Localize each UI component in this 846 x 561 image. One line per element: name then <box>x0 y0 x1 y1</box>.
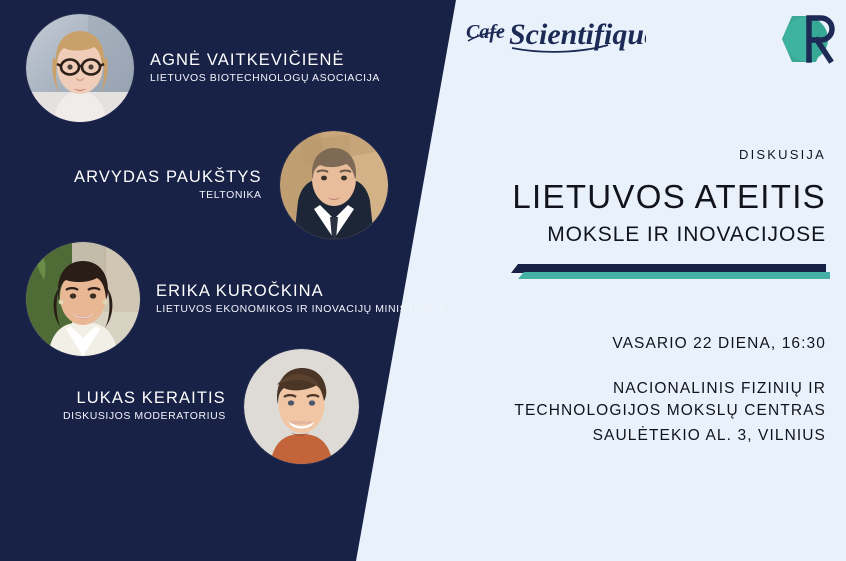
speaker-entry-1: AGNĖ VAITKEVIČIENĖ LIETUVOS BIOTECHNOLOG… <box>26 14 380 122</box>
organisation-r-logo <box>776 8 838 70</box>
speaker-info-2: ARVYDAS PAUKŠTYS TELTONIKA <box>74 168 262 202</box>
speaker-org-3: LIETUVOS EKONOMIKOS IR INOVACIJŲ MINISTE… <box>156 303 447 316</box>
accent-bar-teal <box>518 272 830 279</box>
event-date: VASARIO 22 DIENA, 16:30 <box>612 335 826 353</box>
speaker-name-4: LUKAS KERAITIS <box>63 389 226 408</box>
speaker-entry-4: LUKAS KERAITIS DISKUSIJOS MODERATORIUS <box>63 349 359 464</box>
speaker-name-2: ARVYDAS PAUKŠTYS <box>74 168 262 187</box>
speaker-org-4: DISKUSIJOS MODERATORIUS <box>63 410 226 423</box>
speaker-info-1: AGNĖ VAITKEVIČIENĖ LIETUVOS BIOTECHNOLOG… <box>150 51 380 85</box>
speaker-name-3: ERIKA KUROČKINA <box>156 282 447 301</box>
speaker-org-2: TELTONIKA <box>74 189 262 202</box>
speaker-info-3: ERIKA KUROČKINA LIETUVOS EKONOMIKOS IR I… <box>156 282 447 316</box>
event-title: LIETUVOS ATEITIS <box>512 178 826 216</box>
svg-text:Scientifique: Scientifique <box>509 18 646 51</box>
speaker-photo-4 <box>244 349 359 464</box>
speaker-photo-3 <box>26 242 140 356</box>
event-address: SAULĖTEKIO AL. 3, VILNIUS <box>593 427 826 445</box>
speaker-entry-3: ERIKA KUROČKINA LIETUVOS EKONOMIKOS IR I… <box>26 242 447 356</box>
event-kicker: DISKUSIJA <box>739 147 826 162</box>
accent-bar-navy <box>511 264 826 273</box>
event-poster: AGNĖ VAITKEVIČIENĖ LIETUVOS BIOTECHNOLOG… <box>0 0 846 561</box>
event-subtitle: MOKSLE IR INOVACIJOSE <box>547 223 826 247</box>
cafe-scientifique-logo: Cafe Scientifique <box>466 8 646 56</box>
speaker-entry-2: ARVYDAS PAUKŠTYS TELTONIKA <box>74 131 388 239</box>
speaker-org-1: LIETUVOS BIOTECHNOLOGŲ ASOCIACIJA <box>150 72 380 85</box>
speaker-info-4: LUKAS KERAITIS DISKUSIJOS MODERATORIUS <box>63 389 226 423</box>
speaker-photo-2 <box>280 131 388 239</box>
speaker-photo-1 <box>26 14 134 122</box>
event-venue: NACIONALINIS FIZINIŲ IR TECHNOLOGIJOS MO… <box>466 378 826 423</box>
speaker-name-1: AGNĖ VAITKEVIČIENĖ <box>150 51 380 70</box>
